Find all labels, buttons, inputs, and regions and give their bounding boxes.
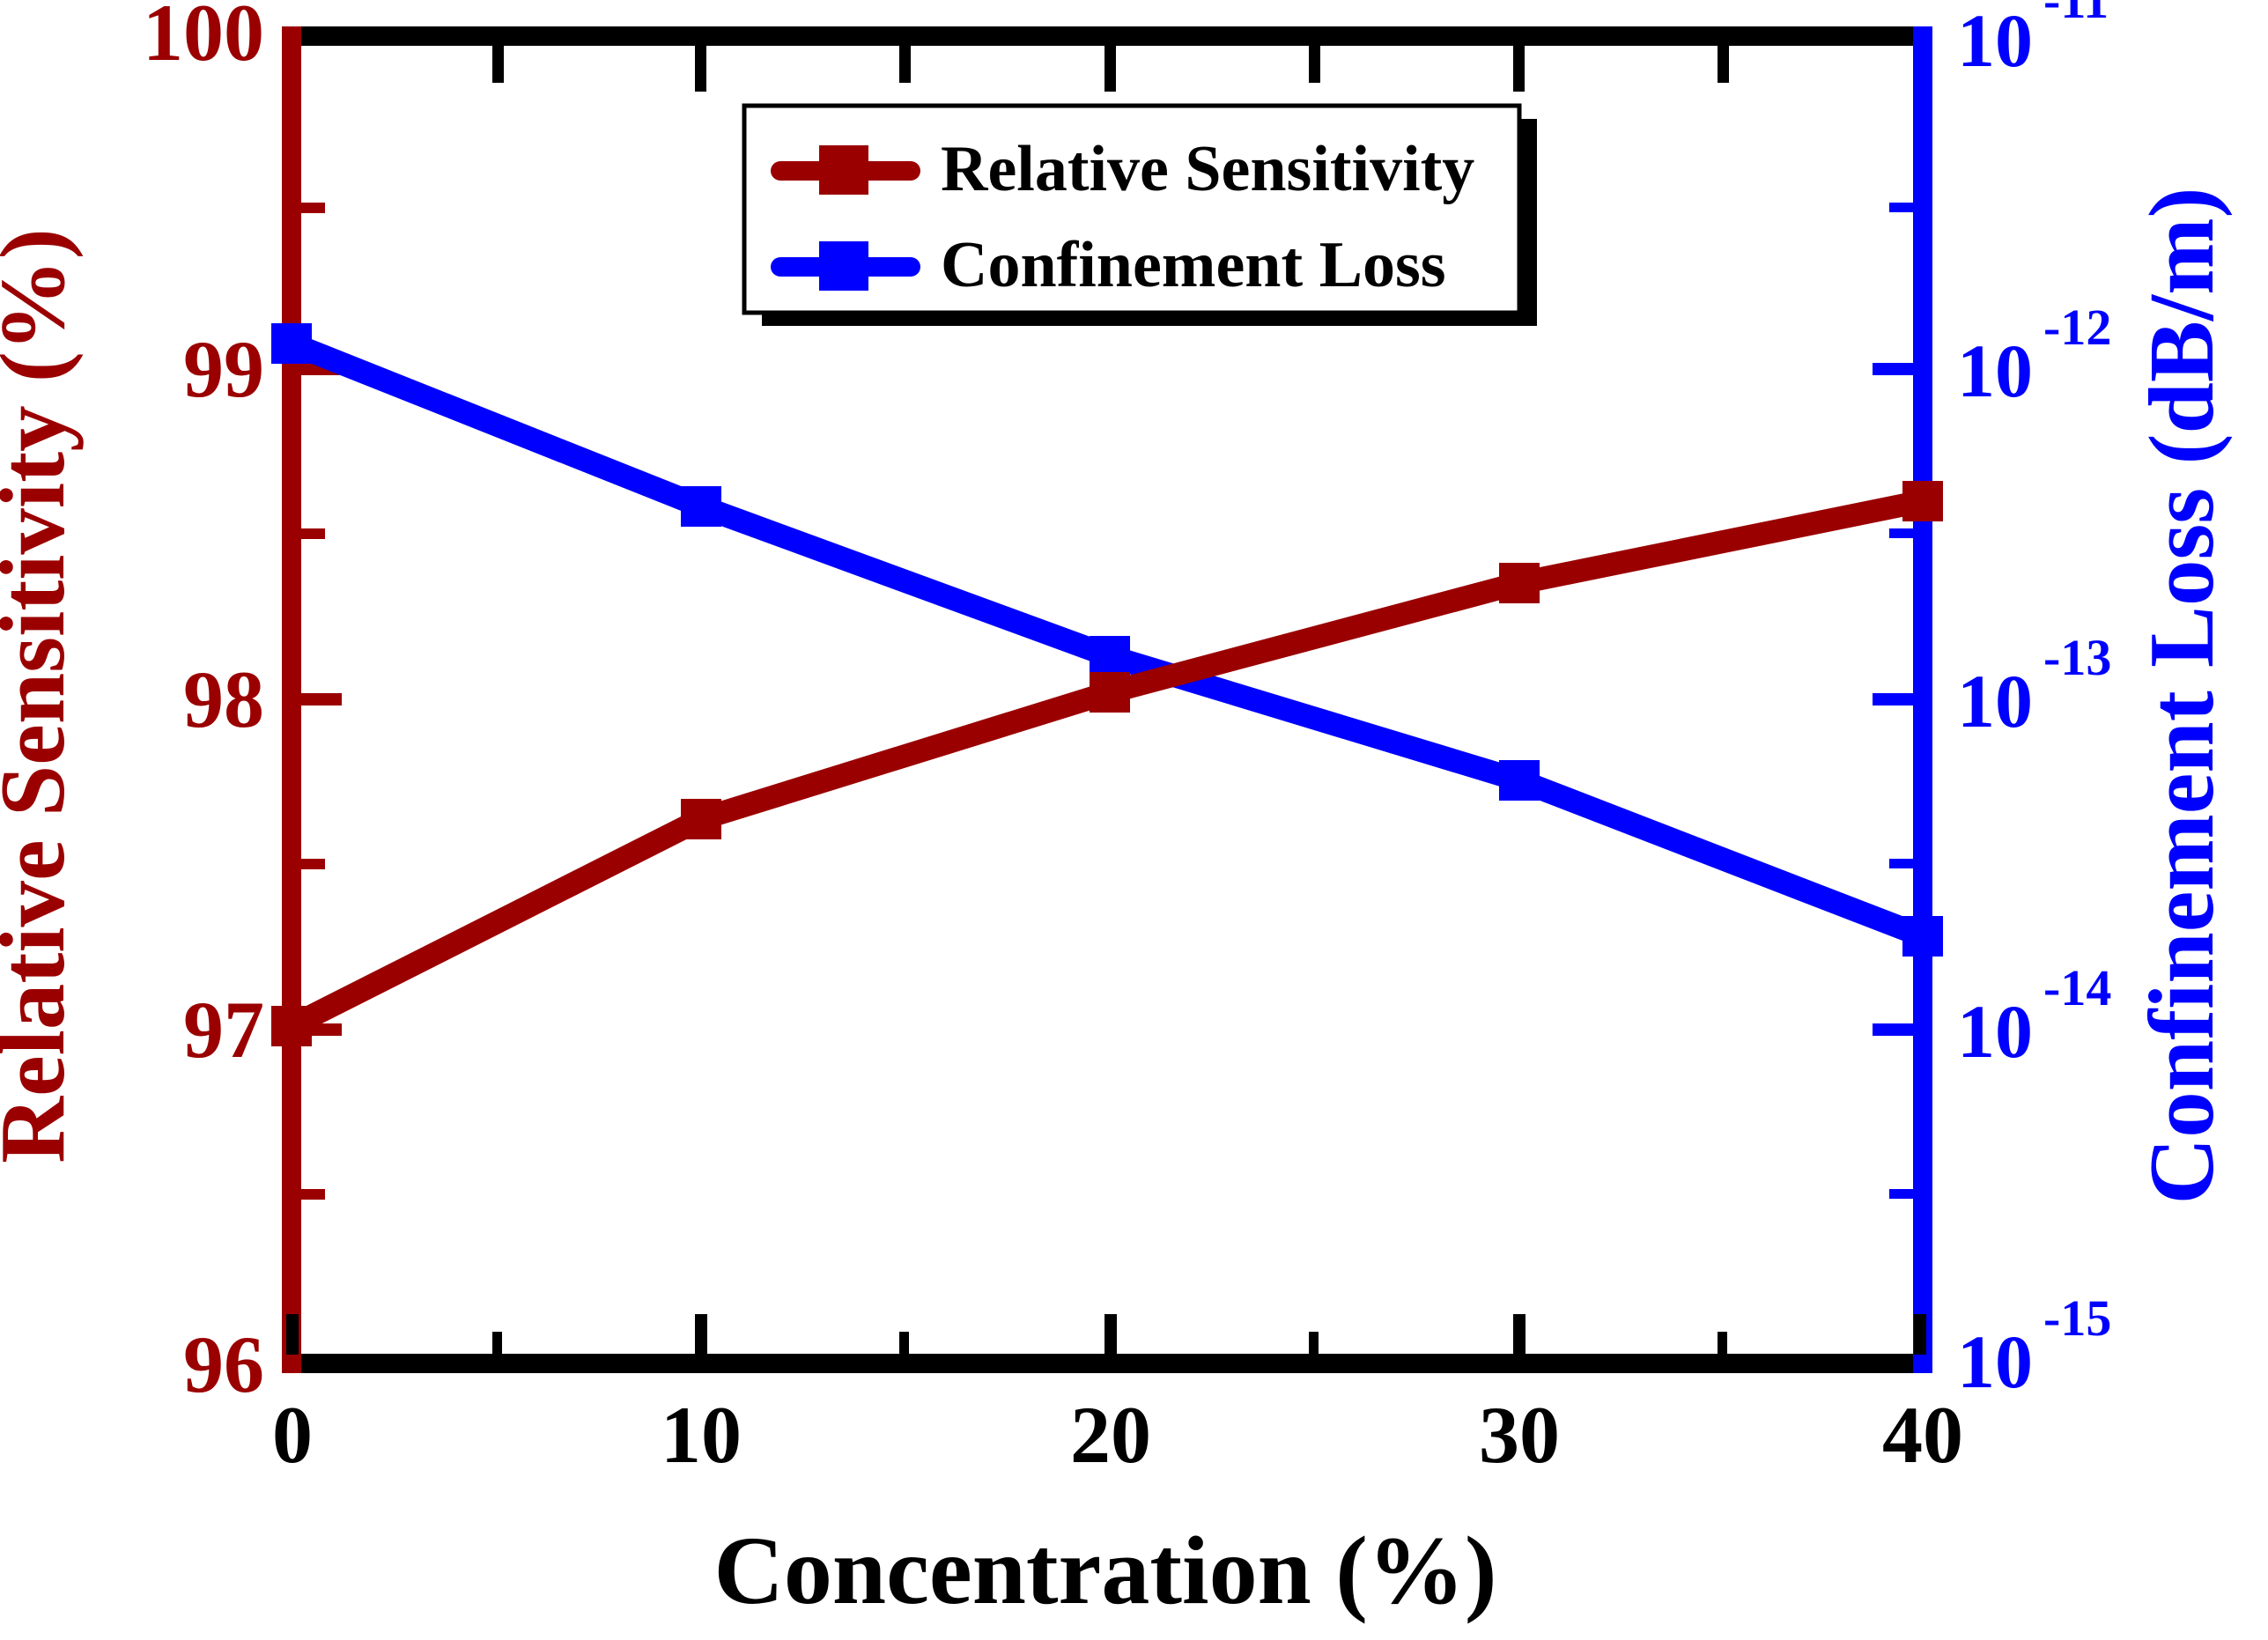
left-y-tick-label-100: 100 <box>143 0 264 78</box>
left-y-tick-label-99: 99 <box>183 324 264 414</box>
left-y-axis-title: Relative Sensitivity (%) <box>0 228 84 1163</box>
svg-text:-12: -12 <box>2043 299 2111 356</box>
svg-text:10: 10 <box>1957 0 2033 83</box>
svg-text:10: 10 <box>1957 1319 2033 1404</box>
x-tick-label-0: 0 <box>272 1390 313 1480</box>
svg-text:-15: -15 <box>2043 1289 2111 1347</box>
svg-text:10: 10 <box>1957 329 2033 413</box>
x-axis-title: Concentration (%) <box>713 1517 1496 1624</box>
right-y-axis-title: Confinement Loss (dB/m) <box>2130 187 2233 1204</box>
svg-text:-14: -14 <box>2043 959 2111 1016</box>
svg-text:-11: -11 <box>2043 0 2109 29</box>
x-tick-labels: 0 10 20 30 40 <box>272 1390 1963 1480</box>
right-y-tick-label-1e-12: 10 -12 <box>1957 299 2111 413</box>
right-y-tick-label-1e-14: 10 -14 <box>1957 959 2111 1074</box>
right-axis-spine <box>1913 26 1932 1373</box>
left-axis-spine <box>282 26 301 1373</box>
left-y-tick-label-98: 98 <box>183 654 264 744</box>
frame-bottom <box>286 1354 1926 1373</box>
left-axis-major-ticks <box>301 363 342 1036</box>
right-y-tick-labels: 10 -15 10 -14 10 -13 10 -12 10 -11 <box>1957 0 2111 1404</box>
series-line-relative-sensitivity <box>292 501 1923 1026</box>
left-y-tick-label-96: 96 <box>183 1319 264 1409</box>
x-tick-label-1: 10 <box>661 1390 742 1480</box>
svg-text:10: 10 <box>1957 659 2033 743</box>
legend-label-confinement-loss: Confinement Loss <box>941 229 1446 301</box>
x-tick-label-3: 30 <box>1479 1390 1560 1480</box>
right-y-tick-label-1e-13: 10 -13 <box>1957 629 2111 743</box>
svg-text:10: 10 <box>1957 989 2033 1074</box>
x-tick-label-4: 40 <box>1882 1390 1963 1480</box>
dual-axis-line-chart: Relative Sensitivity Confinement Loss 0 … <box>0 0 2268 1640</box>
left-y-tick-label-97: 97 <box>183 985 264 1075</box>
svg-text:-13: -13 <box>2043 629 2111 686</box>
series-markers-relative-sensitivity <box>271 481 1943 1046</box>
x-major-ticks <box>286 1314 1926 1355</box>
legend[interactable]: Relative Sensitivity Confinement Loss <box>744 106 1537 326</box>
left-y-tick-labels: 96 97 98 99 100 <box>143 0 264 1409</box>
series-markers-confinement-loss <box>271 323 1943 957</box>
right-y-tick-label-1e-15: 10 -15 <box>1957 1289 2111 1404</box>
frame-top <box>286 26 1926 46</box>
legend-label-relative-sensitivity: Relative Sensitivity <box>941 133 1474 205</box>
right-y-tick-label-1e-11: 10 -11 <box>1957 0 2109 83</box>
chart-figure: Relative Sensitivity Confinement Loss 0 … <box>0 0 2268 1640</box>
x-tick-label-2: 20 <box>1070 1390 1151 1480</box>
x-top-ticks <box>492 46 1729 92</box>
